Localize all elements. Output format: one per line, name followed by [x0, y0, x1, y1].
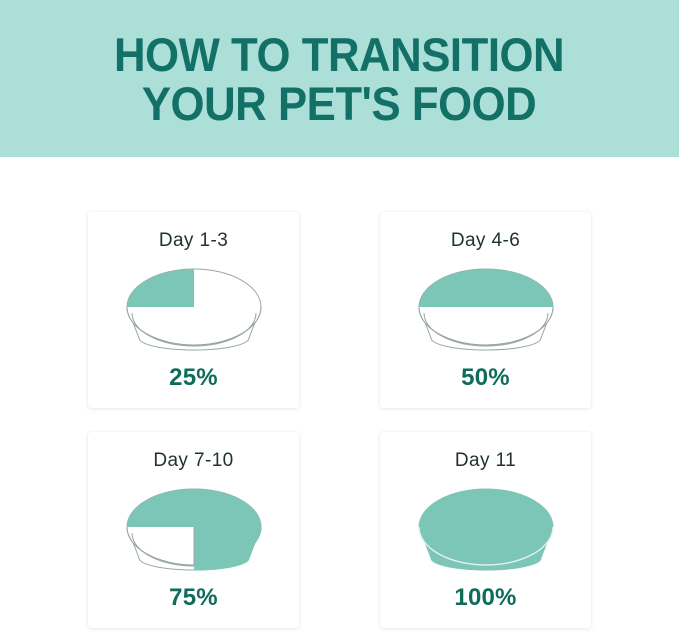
percent-label: 50% — [461, 365, 510, 391]
percent-label: 100% — [454, 585, 516, 611]
bowl-illustration-50 — [411, 260, 561, 352]
percent-label: 75% — [169, 585, 218, 611]
bowl-illustration-100 — [411, 480, 561, 572]
bowl-100-icon — [411, 480, 561, 572]
header-banner: HOW TO TRANSITION YOUR PET'S FOOD — [0, 0, 679, 157]
page-title: HOW TO TRANSITION YOUR PET'S FOOD — [100, 30, 580, 128]
bowl-75-icon — [119, 480, 269, 572]
bowl-illustration-25 — [119, 260, 269, 352]
step-card-day-11: Day 11 100% — [380, 432, 591, 628]
bowl-50-icon — [411, 260, 561, 352]
bowl-illustration-75 — [119, 480, 269, 572]
step-card-day-4-6: Day 4-6 50% — [380, 212, 591, 408]
percent-label: 25% — [169, 365, 218, 391]
step-card-day-7-10: Day 7-10 — [88, 432, 299, 628]
step-card-day-1-3: Day 1-3 — [88, 212, 299, 408]
transition-steps-grid: Day 1-3 — [0, 157, 679, 635]
day-label: Day 4-6 — [451, 230, 520, 252]
bowl-25-icon — [119, 260, 269, 352]
day-label: Day 11 — [455, 450, 516, 472]
day-label: Day 1-3 — [159, 230, 228, 252]
day-label: Day 7-10 — [153, 450, 233, 472]
